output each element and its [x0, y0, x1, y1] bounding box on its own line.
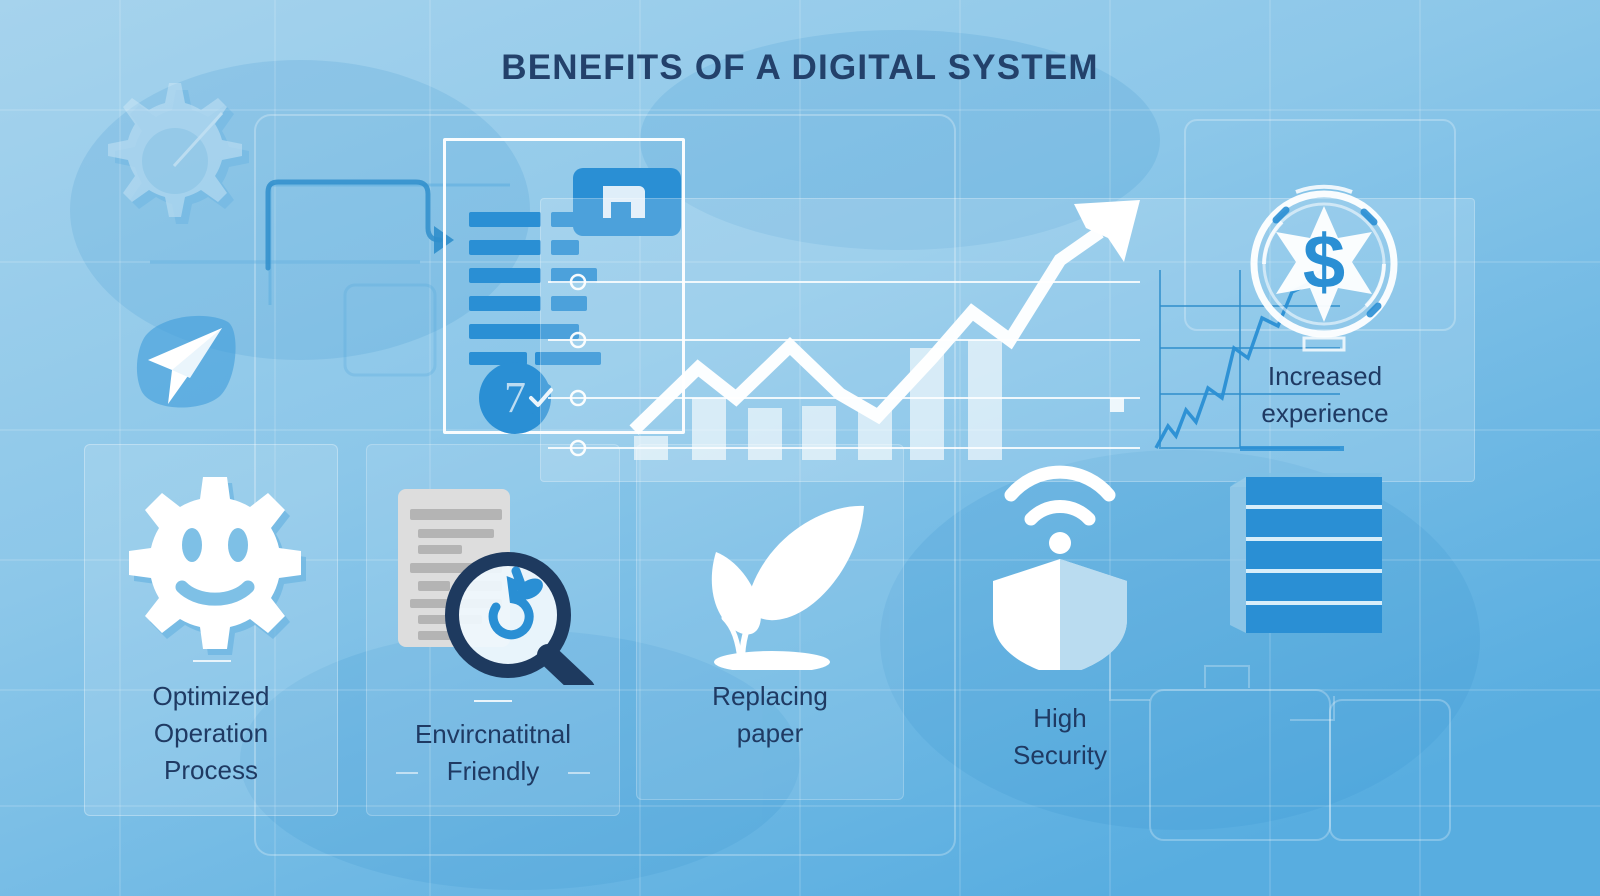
divider-optimized — [193, 660, 231, 662]
benefit-label-optimized-operation-process: Optimized Operation Process — [84, 678, 338, 789]
paper-plane-icon — [128, 308, 248, 418]
benefit-label-environmental-friendly: Envircnatitnal Friendly — [366, 716, 620, 790]
divider-environmental-left — [396, 772, 418, 774]
benefit-label-replacing-paper: Replacing paper — [636, 678, 904, 752]
svg-text:$: $ — [1303, 220, 1345, 305]
connector-arrow-icon — [258, 168, 458, 278]
document-magnifier-icon — [390, 485, 610, 685]
smiley-gear-icon — [120, 470, 310, 660]
benefit-label-increased-experience: Increased experience — [1200, 358, 1450, 432]
divider-environmental — [474, 700, 512, 702]
divider-environmental-right — [568, 772, 590, 774]
benefit-label-high-security: High Security — [935, 700, 1185, 774]
dollar-star-badge-icon: $ — [1238, 180, 1410, 352]
page-title: BENEFITS OF A DIGITAL SYSTEM — [0, 48, 1600, 88]
infographic-canvas: BENEFITS OF A DIGITAL SYSTEM — [0, 0, 1600, 896]
svg-text:7: 7 — [504, 373, 526, 422]
sprout-leaves-icon — [680, 490, 870, 670]
wifi-shield-icon — [985, 455, 1135, 670]
database-stack-icon — [1222, 465, 1392, 645]
